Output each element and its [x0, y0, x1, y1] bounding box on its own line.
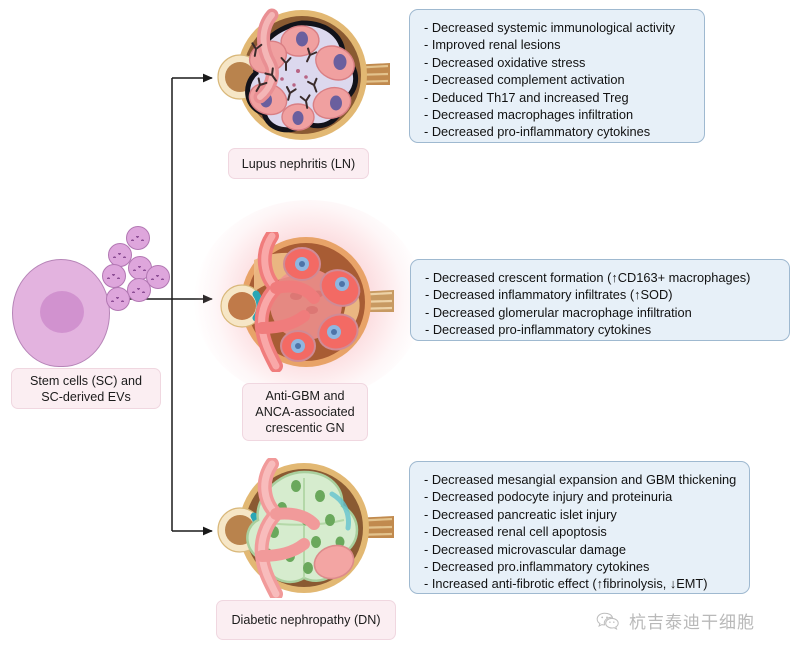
glomerulus-lupus-nephritis	[210, 5, 396, 145]
outcomes-anti-gbm-anca: - Decreased crescent formation (↑CD163+ …	[410, 259, 790, 341]
outcome-item: - Decreased pro-inflammatory cytokines	[425, 321, 775, 338]
label-line: Diabetic nephropathy (DN)	[231, 612, 380, 628]
extracellular-vesicle	[106, 287, 130, 311]
outcome-item: - Decreased pancreatic islet injury	[424, 506, 735, 523]
extracellular-vesicle	[127, 278, 151, 302]
outcome-item: - Decreased mesangial expansion and GBM …	[424, 471, 735, 488]
outcome-item: - Decreased glomerular macrophage infilt…	[425, 304, 775, 321]
outcome-item: - Decreased macrophages infiltration	[424, 106, 690, 123]
label-line: ANCA-associated	[255, 404, 354, 420]
stem-cell	[12, 259, 110, 367]
watermark: 杭吉泰迪干细胞	[596, 608, 755, 633]
figure-canvas: Lupus nephritis (LN) - Decreased systemi…	[0, 0, 798, 655]
outcomes-lupus-nephritis: - Decreased systemic immunological activ…	[409, 9, 705, 143]
label-line: Lupus nephritis (LN)	[242, 156, 355, 172]
outcome-item: - Decreased systemic immunological activ…	[424, 19, 690, 36]
label-lupus-nephritis: Lupus nephritis (LN)	[228, 148, 369, 179]
outcome-item: - Decreased podocyte injury and proteinu…	[424, 488, 735, 505]
outcome-item: - Improved renal lesions	[424, 36, 690, 53]
watermark-text: 杭吉泰迪干细胞	[629, 608, 755, 633]
outcome-item: - Decreased oxidative stress	[424, 54, 690, 71]
label-line: crescentic GN	[265, 420, 344, 436]
extracellular-vesicle	[126, 226, 150, 250]
outcomes-diabetic-nephropathy: - Decreased mesangial expansion and GBM …	[409, 461, 750, 594]
glomerulus-anti-gbm-anca	[214, 232, 400, 372]
outcome-item: - Decreased inflammatory infiltrates (↑S…	[425, 286, 775, 303]
outcome-item: - Decreased pro.inflammatory cytokines	[424, 558, 735, 575]
wechat-icon	[596, 611, 620, 631]
outcome-item: - Decreased complement activation	[424, 71, 690, 88]
label-line: SC-derived EVs	[41, 389, 131, 405]
outcome-item: - Increased anti-fibrotic effect (↑fibri…	[424, 575, 735, 592]
label-anti-gbm-anca: Anti-GBM and ANCA-associated crescentic …	[242, 383, 368, 441]
glomerulus-diabetic-nephropathy	[212, 458, 398, 598]
outcome-item: - Decreased pro-inflammatory cytokines	[424, 123, 690, 140]
label-line: Anti-GBM and	[265, 388, 344, 404]
label-line: Stem cells (SC) and	[30, 373, 142, 389]
label-stem-cells-source: Stem cells (SC) and SC-derived EVs	[11, 368, 161, 409]
outcome-item: - Decreased microvascular damage	[424, 541, 735, 558]
outcome-item: - Decreased crescent formation (↑CD163+ …	[425, 269, 775, 286]
label-diabetic-nephropathy: Diabetic nephropathy (DN)	[216, 600, 396, 640]
outcome-item: - Deduced Th17 and increased Treg	[424, 89, 690, 106]
extracellular-vesicle	[102, 264, 126, 288]
stem-cell-nucleus	[40, 291, 84, 333]
outcome-item: - Decreased renal cell apoptosis	[424, 523, 735, 540]
